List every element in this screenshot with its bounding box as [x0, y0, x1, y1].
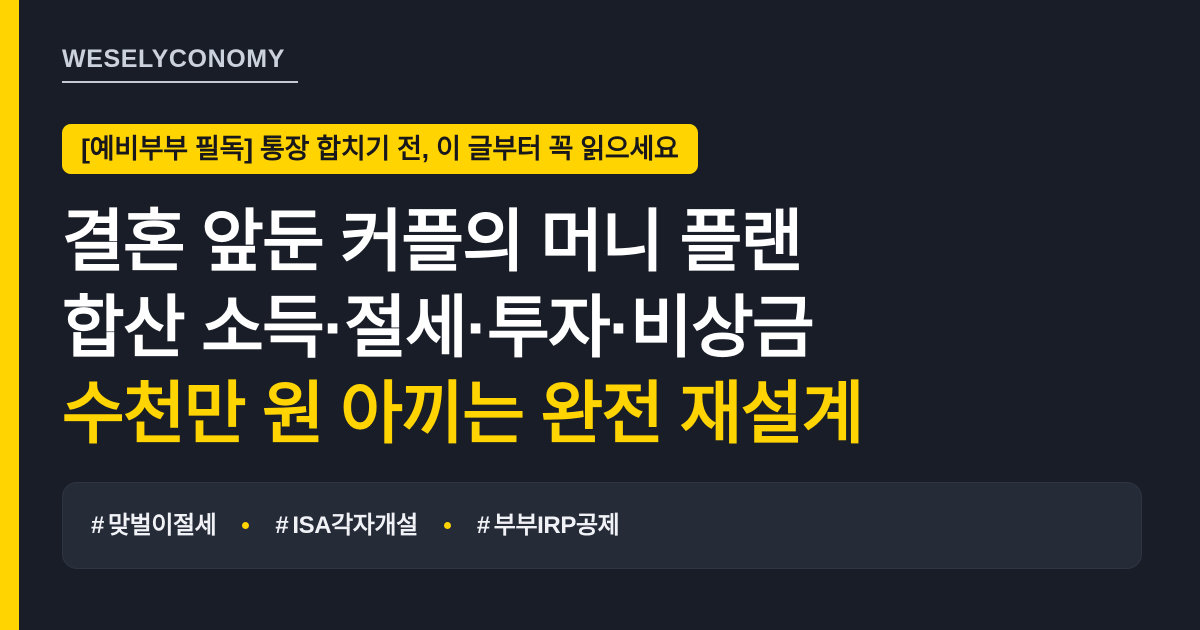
- headline-line-2: 합산 소득·절세·투자·비상금: [62, 285, 1152, 371]
- tag-item-1: #맞벌이절세: [91, 514, 216, 538]
- eyebrow-badge: [예비부부 필독] 통장 합치기 전, 이 글부터 꼭 읽으세요: [62, 124, 698, 174]
- brand-underline-divider: [62, 81, 298, 83]
- tag-card: #맞벌이절세 #ISA각자개설 #부부IRP공제: [62, 482, 1142, 569]
- hash-icon: #: [477, 512, 490, 539]
- tag-item-1-label: 맞벌이절세: [108, 512, 216, 539]
- headline-line-1: 결혼 앞둔 커플의 머니 플랜: [62, 199, 1152, 285]
- brand-block: WESELYCONOMY: [62, 47, 298, 83]
- brand-name: WESELYCONOMY: [62, 47, 298, 72]
- left-accent-bar: [0, 0, 19, 630]
- hash-icon: #: [91, 512, 104, 539]
- tag-item-2-label: ISA각자개설: [292, 512, 418, 539]
- tag-list: #맞벌이절세 #ISA각자개설 #부부IRP공제: [63, 514, 619, 538]
- tag-separator-dot-1: [242, 522, 249, 529]
- poster-card: WESELYCONOMY [예비부부 필독] 통장 합치기 전, 이 글부터 꼭…: [0, 0, 1200, 630]
- headline-line-3: 수천만 원 아끼는 완전 재설계: [62, 371, 1152, 457]
- content-column: WESELYCONOMY [예비부부 필독] 통장 합치기 전, 이 글부터 꼭…: [62, 0, 1152, 630]
- headline: 결혼 앞둔 커플의 머니 플랜 합산 소득·절세·투자·비상금 수천만 원 아끼…: [62, 199, 1152, 457]
- tag-separator-dot-2: [444, 522, 451, 529]
- tag-item-2: #ISA각자개설: [275, 514, 417, 538]
- tag-item-3-label: 부부IRP공제: [494, 512, 620, 539]
- hash-icon: #: [275, 512, 288, 539]
- eyebrow-badge-label: [예비부부 필독] 통장 합치기 전, 이 글부터 꼭 읽으세요: [81, 136, 679, 163]
- tag-item-3: #부부IRP공제: [477, 514, 619, 538]
